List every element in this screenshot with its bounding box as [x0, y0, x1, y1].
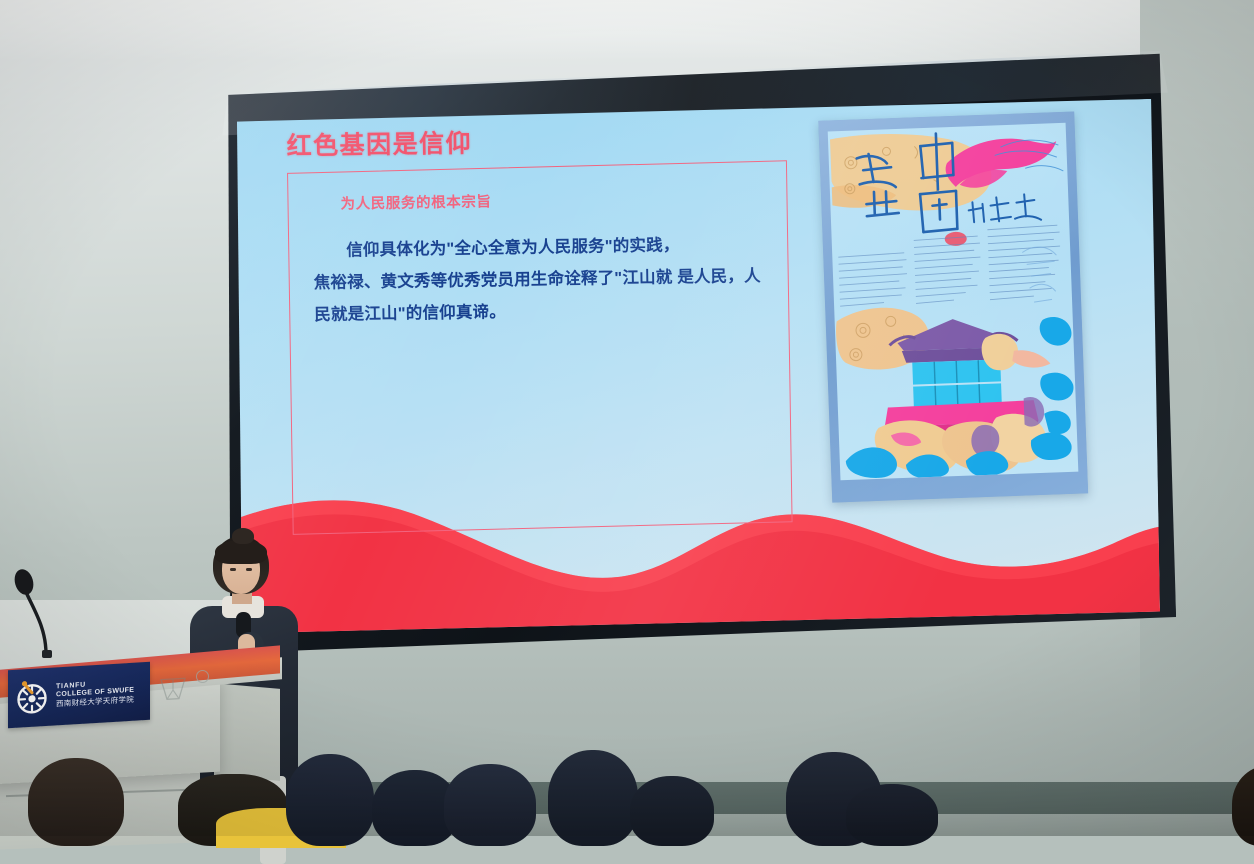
recycle-bin-icon — [158, 675, 188, 703]
presenter-hair-bun — [232, 528, 254, 544]
slide-poster-image — [818, 111, 1088, 502]
presenter-eye-left — [230, 568, 236, 571]
podium-control-dial[interactable] — [196, 670, 209, 683]
slide-body-text: 信仰具体化为"全心全意为人民服务"的实践， 焦裕禄、黄文秀等优秀党员用生命诠释了… — [313, 228, 766, 331]
slide-title: 红色基因是信仰 — [286, 124, 472, 163]
audience-head-9 — [846, 784, 938, 846]
tianfu-swufe-wheel-emblem — [12, 677, 52, 719]
audience-head-1 — [28, 758, 124, 846]
slide-subheading: 为人民服务的根本宗旨 — [340, 190, 491, 213]
ceiling-light-wash — [0, 0, 1254, 60]
presenter-eye-right — [246, 568, 252, 571]
slide-body-line-2: 焦裕禄、黄文秀等优秀党员用生命诠释了"江山就 — [314, 268, 673, 292]
mic-capsule — [12, 567, 36, 597]
projection-screen: 红色基因是信仰 为人民服务的根本宗旨 信仰具体化为"全心全意为人民服务"的实践，… — [217, 50, 1186, 665]
podium-name-plaque: TIANFU COLLEGE OF SWUFE 西南财经大学天府学院 — [8, 662, 150, 728]
poster-artwork — [828, 123, 1079, 480]
audience-head-10 — [1232, 766, 1254, 846]
audience-head-5 — [444, 764, 536, 846]
poster-paper — [828, 123, 1079, 480]
audience-head-3 — [286, 754, 374, 846]
presentation-slide: 红色基因是信仰 为人民服务的根本宗旨 信仰具体化为"全心全意为人民服务"的实践，… — [234, 99, 1160, 633]
plaque-line-chinese: 西南财经大学天府学院 — [56, 696, 134, 709]
slide-body-line-1: 信仰具体化为"全心全意为人民服务"的实践， — [313, 228, 765, 267]
audience-row — [0, 756, 1254, 836]
slide-content-box: 为人民服务的根本宗旨 信仰具体化为"全心全意为人民服务"的实践， 焦裕禄、黄文秀… — [287, 160, 793, 535]
audience-head-6 — [548, 750, 638, 846]
